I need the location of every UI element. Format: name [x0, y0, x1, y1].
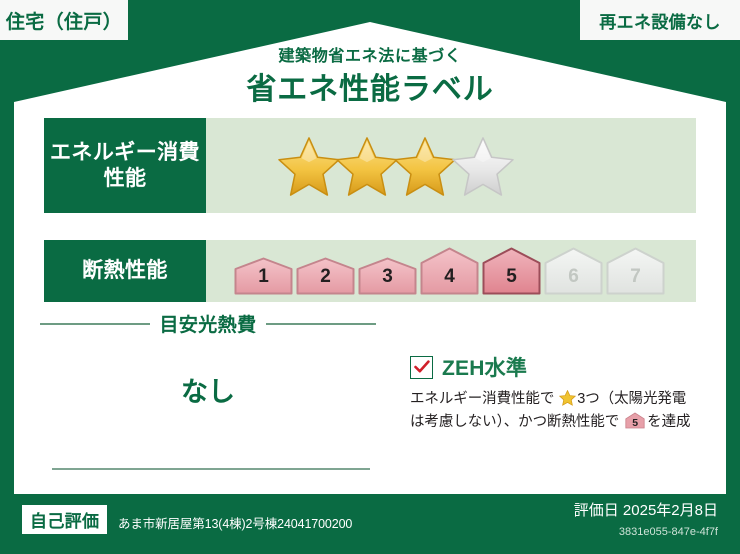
zeh-title-label: ZEH水準	[442, 352, 527, 382]
self-evaluation-badge: 自己評価	[22, 505, 107, 534]
energy-performance-body	[206, 118, 696, 213]
star-empty-icon	[452, 136, 514, 196]
label-panel: 建築物省エネ法に基づく 省エネ性能ラベル エネルギー消費性能 断熱性能 1234…	[14, 14, 726, 494]
insulation-performance-body: 1234567	[206, 240, 696, 302]
insulation-performance-label: 断熱性能	[44, 240, 206, 302]
heading-rule-right	[266, 323, 376, 325]
check-icon	[414, 360, 430, 374]
zeh-desc-part1: エネルギー消費性能で	[410, 391, 554, 407]
utility-cost-heading-text: 目安光熱費	[160, 310, 257, 337]
insulation-level-value: 3	[358, 266, 417, 288]
insulation-level-6: 6	[544, 247, 603, 295]
insulation-level-value: 1	[234, 266, 293, 288]
energy-performance-label-text: エネルギー消費性能	[44, 140, 206, 191]
insulation-level-value: 2	[296, 266, 355, 288]
utility-cost-value: なし	[40, 370, 376, 409]
insulation-level-value: 7	[606, 266, 665, 288]
heading-rule-left	[40, 323, 150, 325]
energy-performance-label: エネルギー消費性能	[44, 118, 206, 213]
utility-cost-divider	[52, 468, 370, 470]
zeh-description: エネルギー消費性能で 3つ（太陽光発電 は考慮しない）、かつ断熱性能で 5 を達…	[410, 388, 710, 435]
insulation-badge-inline: 5	[625, 412, 645, 429]
tab-renewable-energy-label: 再エネ設備なし	[599, 8, 720, 33]
insulation-level-5: 5	[482, 247, 541, 295]
star-rating	[278, 136, 510, 196]
utility-cost-heading: 目安光熱費	[40, 310, 376, 337]
insulation-performance-label-text: 断熱性能	[82, 258, 168, 284]
insulation-performance-row: 断熱性能 1234567	[44, 240, 696, 302]
footer: 自己評価 あま市新居屋第13(4棟)2号棟24041700200 評価日 202…	[0, 494, 740, 554]
insulation-level-7: 7	[606, 247, 665, 295]
property-address: あま市新居屋第13(4棟)2号棟24041700200	[118, 513, 352, 532]
insulation-level-4: 4	[420, 247, 479, 295]
insulation-level-value: 4	[420, 266, 479, 288]
zeh-title-row: ZEH水準	[410, 352, 710, 382]
insulation-badge-inline-value: 5	[625, 418, 645, 429]
evaluation-date: 評価日 2025年2月8日	[574, 499, 718, 520]
insulation-level-value: 6	[544, 266, 603, 288]
star-filled-icon	[394, 136, 456, 196]
checkbox-zeh	[410, 356, 433, 379]
tab-renewable-energy: 再エネ設備なし	[580, 0, 740, 40]
insulation-level-2: 2	[296, 257, 355, 295]
energy-performance-row: エネルギー消費性能	[44, 118, 696, 213]
zeh-desc-part3: は考慮しない）、かつ断熱性能で	[410, 414, 619, 430]
zeh-desc-part4: を達成	[647, 414, 690, 430]
star-filled-icon	[336, 136, 398, 196]
insulation-level-3: 3	[358, 257, 417, 295]
section-divider	[394, 314, 396, 482]
insulation-level-1: 1	[234, 257, 293, 295]
tab-building-type: 住宅（住戸）	[0, 0, 128, 40]
tab-building-type-label: 住宅（住戸）	[6, 7, 122, 34]
insulation-level-scale: 1234567	[234, 247, 665, 295]
insulation-level-value: 5	[482, 266, 541, 288]
star-filled-icon	[278, 136, 340, 196]
evaluation-id: 3831e055-847e-4f7f	[619, 526, 718, 538]
zeh-section: ZEH水準 エネルギー消費性能で 3つ（太陽光発電 は考慮しない）、かつ断熱性能…	[410, 352, 710, 435]
zeh-desc-part2: 3つ（太陽光発電	[577, 391, 686, 407]
star-icon	[559, 390, 576, 406]
